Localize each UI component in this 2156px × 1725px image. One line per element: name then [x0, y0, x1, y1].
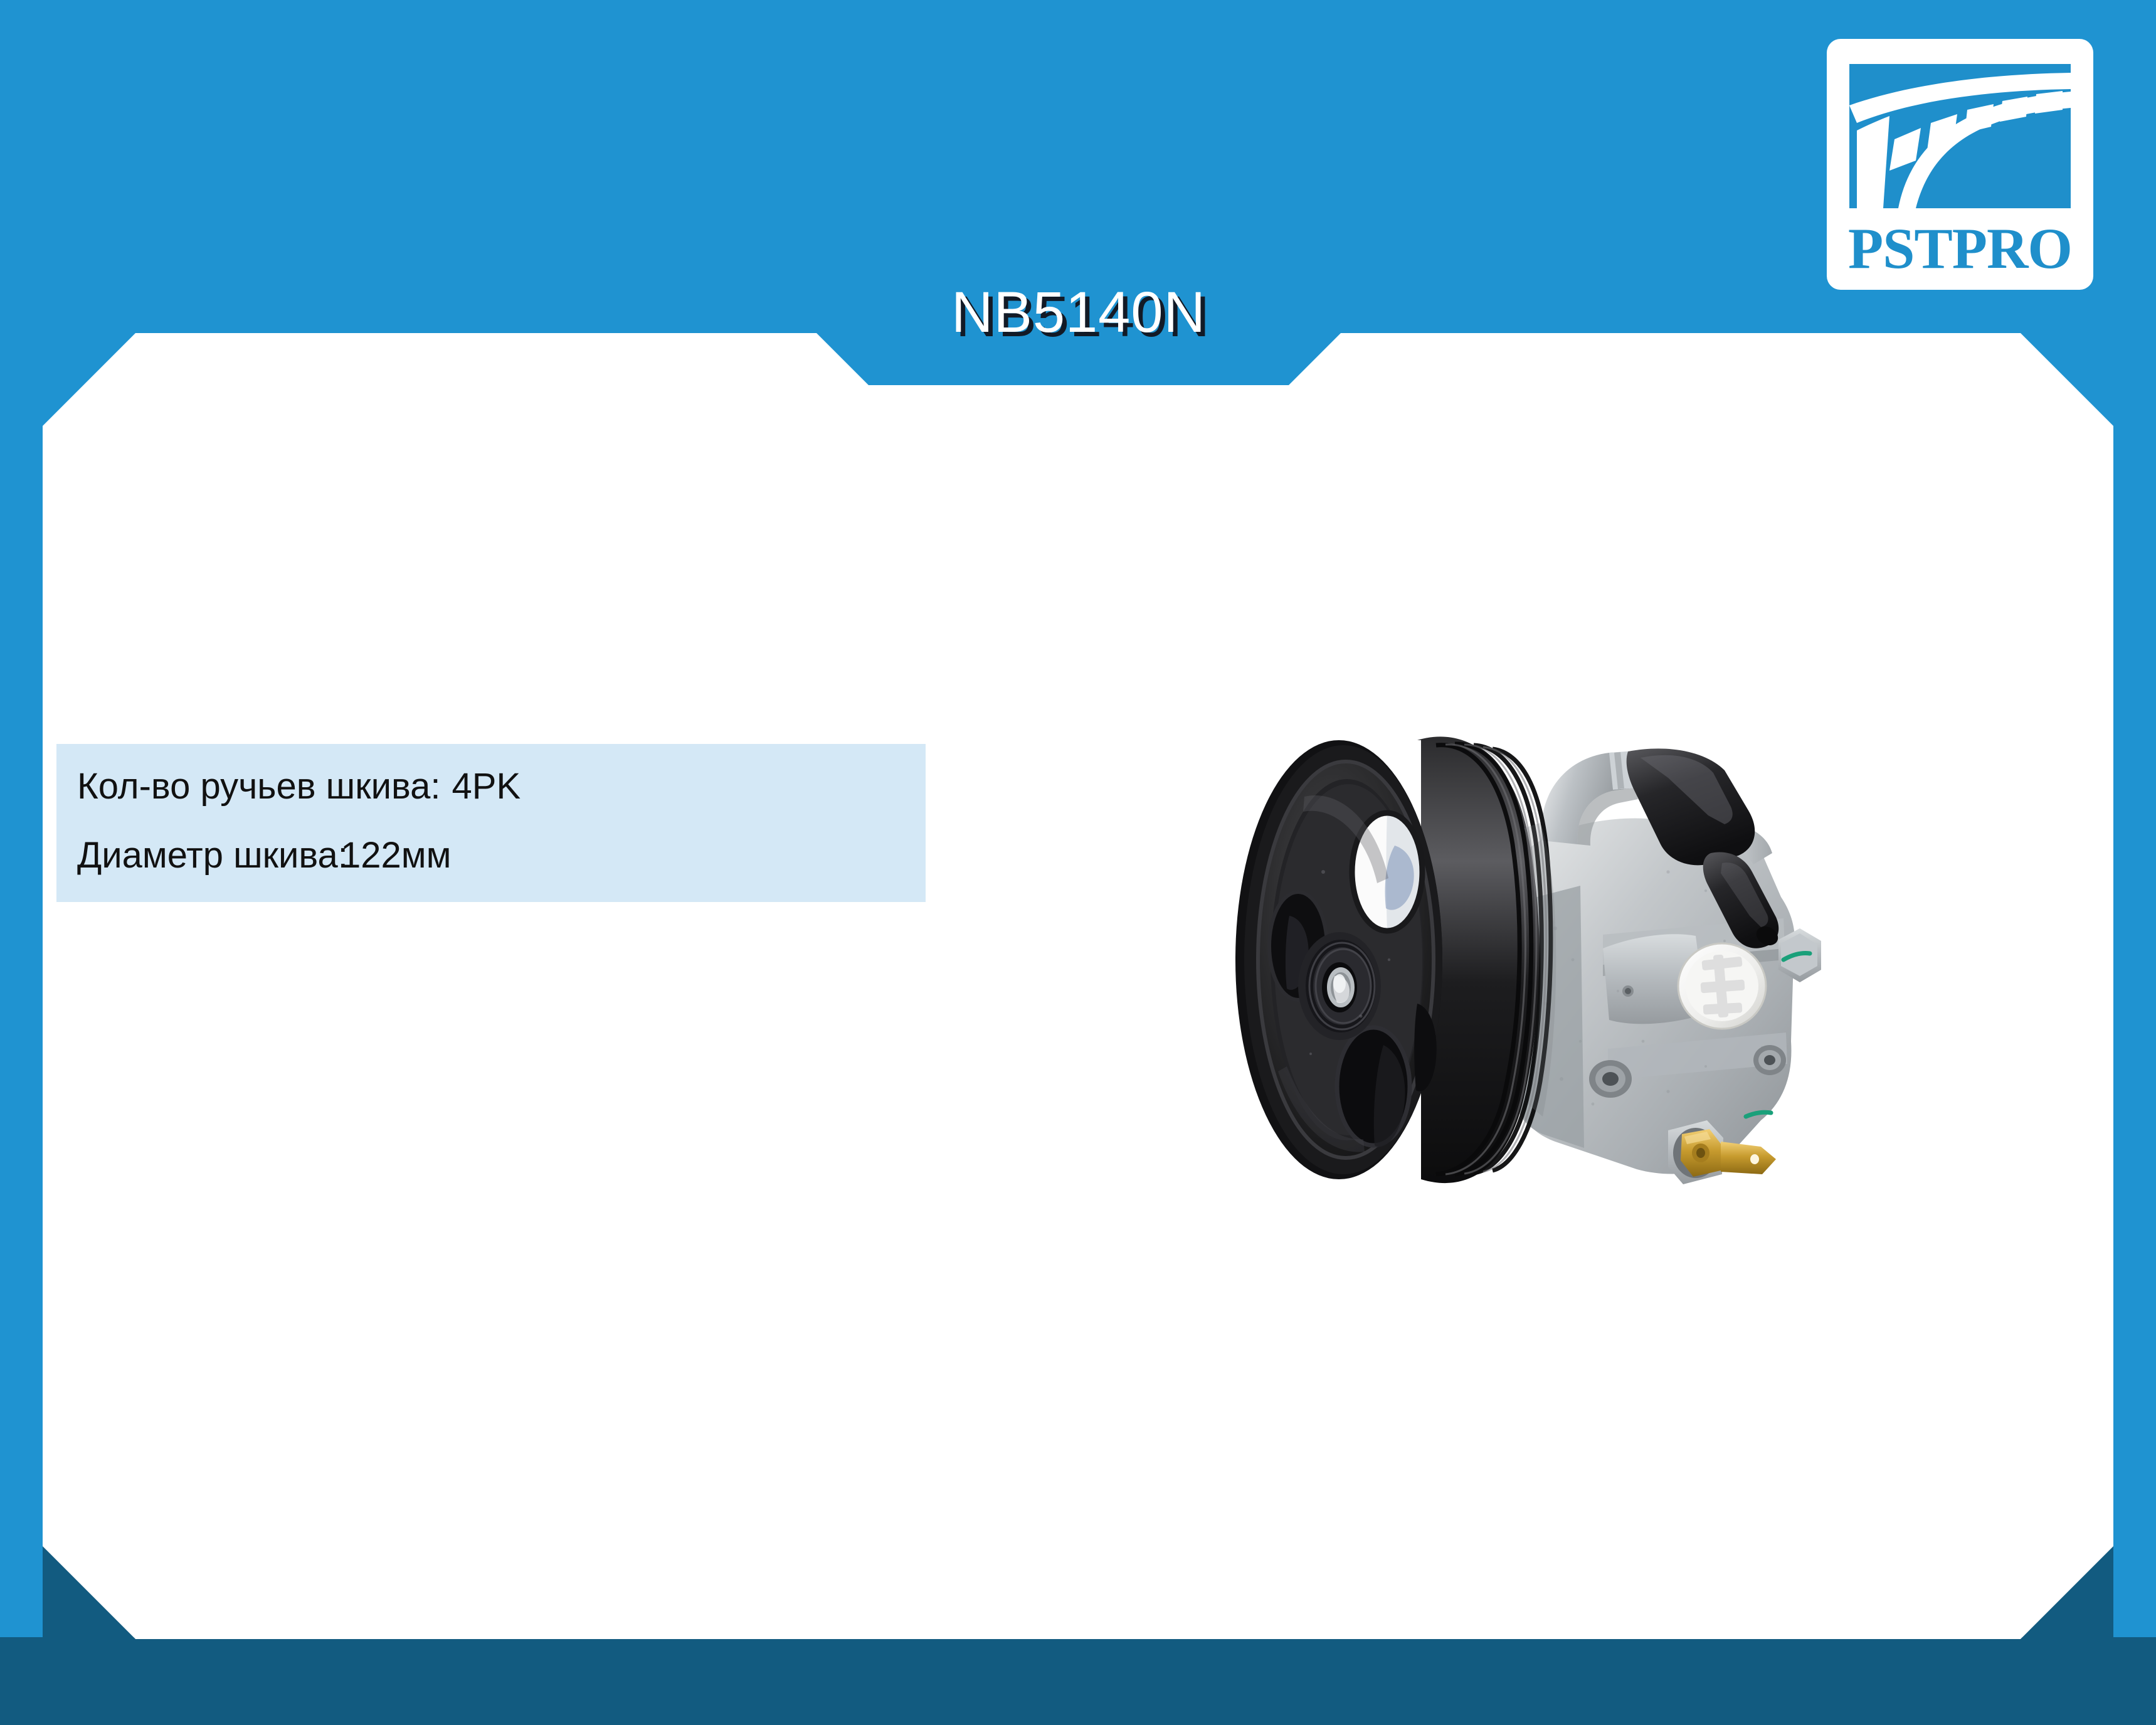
power-steering-pump-photo: [1229, 665, 1931, 1229]
logo-wordmark: PSTPRO: [1838, 220, 2082, 277]
logo-inner: PSTPRO: [1838, 50, 2082, 279]
reservoir-cap: [1678, 943, 1766, 1029]
product-card-page: PSTPRO NB5140N Кол-во ручьев шкива: 4PK …: [0, 0, 2156, 1725]
hex-screw-icon: [1622, 985, 1634, 997]
card-corner-bottom-left: [43, 1546, 135, 1639]
page-title: NB5140N: [951, 284, 1206, 353]
footer-band: [0, 1637, 2156, 1725]
left-blue-rail: [0, 333, 43, 1639]
spec-value: 122мм: [341, 834, 452, 876]
pulley-hub: [1298, 932, 1381, 1040]
right-blue-rail: [2113, 333, 2156, 1639]
spec-row-pulley-diameter: Диаметр шкива: 122мм: [77, 834, 452, 876]
card-corner-top-left: [43, 333, 135, 426]
card-corner-bottom-right: [2021, 1546, 2113, 1639]
pulley: [1235, 740, 1442, 1179]
title-banner: NB5140N: [816, 251, 1341, 385]
threaded-port-icon: [1589, 1060, 1632, 1098]
threaded-port-2-icon: [1753, 1045, 1786, 1075]
brand-logo: PSTPRO: [1827, 39, 2093, 290]
card-corner-top-right: [2021, 333, 2113, 426]
spec-value: 4PK: [452, 765, 521, 807]
pump-illustration: [1229, 665, 1931, 1229]
spec-row-pulley-grooves: Кол-во ручьев шкива: 4PK: [77, 765, 521, 807]
spec-label: Кол-во ручьев шкива:: [77, 765, 441, 807]
spec-label: Диаметр шкива:: [77, 834, 341, 876]
specifications-block: Кол-во ручьев шкива: 4PK Диаметр шкива: …: [56, 744, 926, 902]
